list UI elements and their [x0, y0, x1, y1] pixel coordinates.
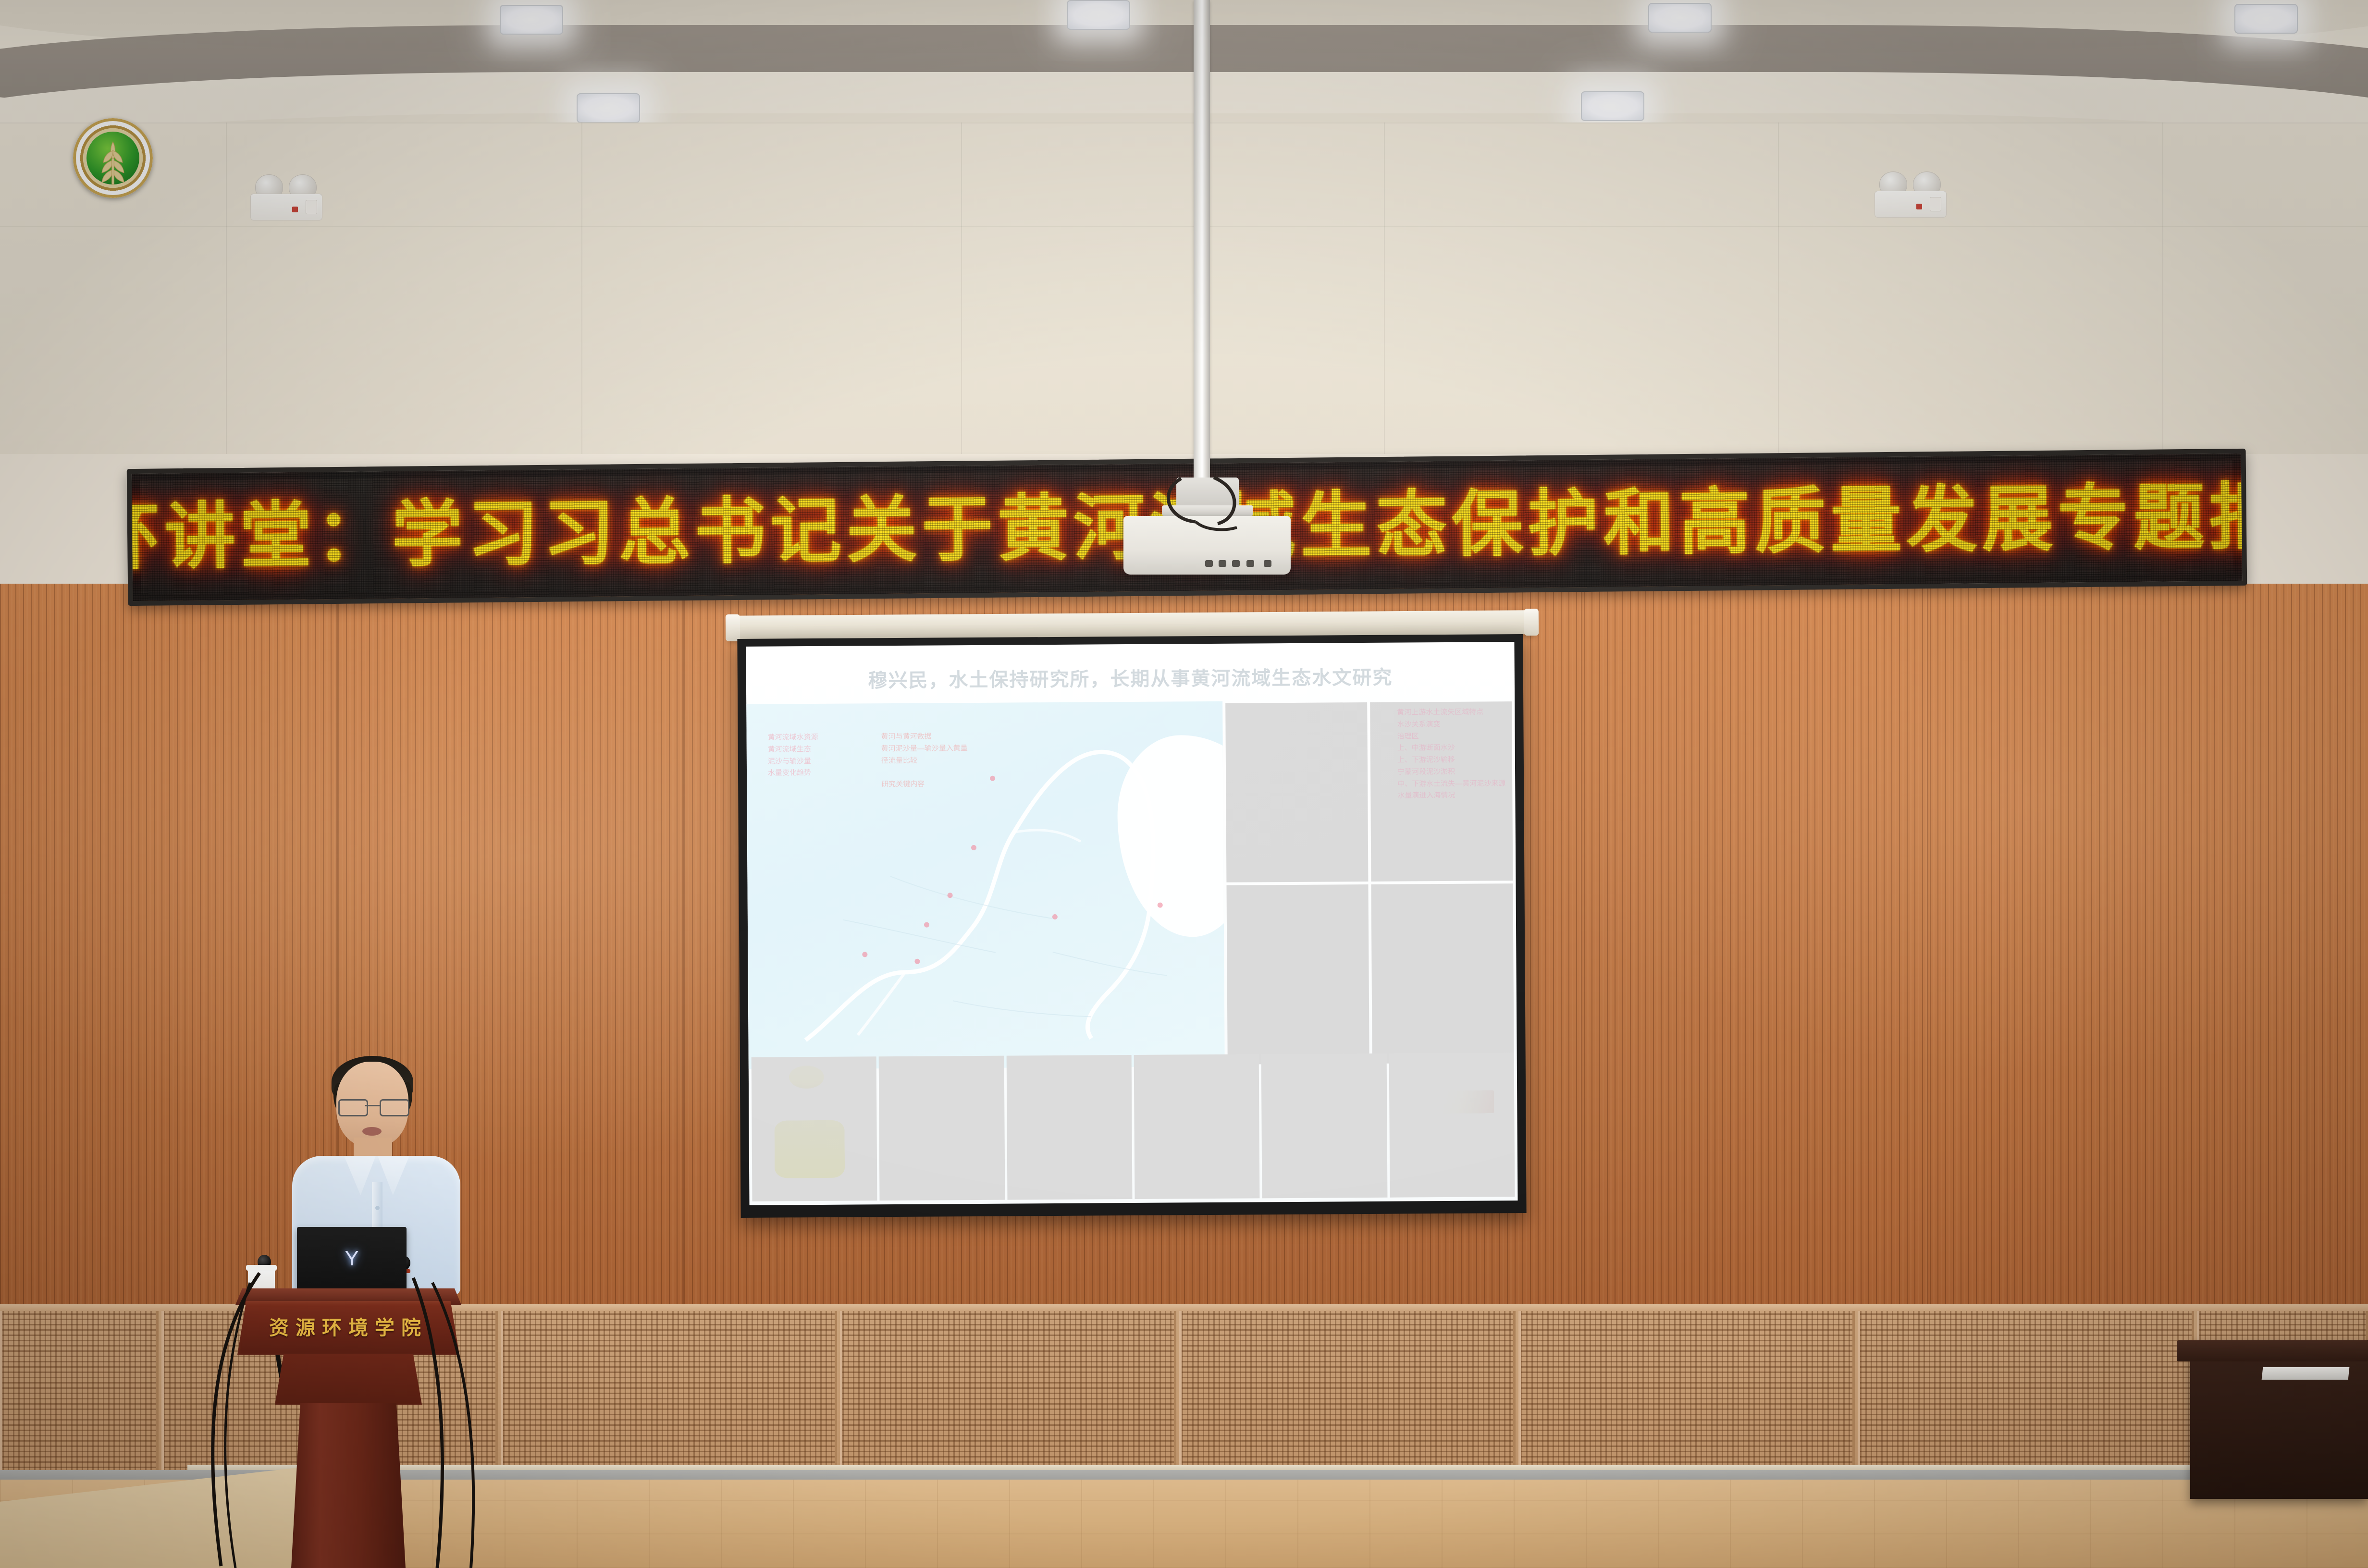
- field-photo-sampling: [1227, 884, 1369, 1065]
- map-city-marker: [862, 952, 867, 957]
- roller-endcap: [1524, 609, 1539, 636]
- projector-port: [1205, 560, 1213, 567]
- upper-wall: [0, 122, 2368, 454]
- photo-red-banner: [1409, 1090, 1494, 1114]
- ceiling-light-panel: [1067, 0, 1130, 30]
- projector-mount-pole: [1194, 0, 1210, 500]
- table-top: [2177, 1340, 2368, 1361]
- yellow-river-basin-map: 黄河流域水资源 黄河流域生态 泥沙与输沙量 水量变化趋势 黄河与黄河数据 黄河泥…: [746, 701, 1225, 1069]
- test-button[interactable]: [1930, 197, 1941, 211]
- ceiling-light-panel: [1581, 91, 1644, 121]
- wall-seam: [1384, 122, 1385, 454]
- projection-screen: 穆兴民，水土保持研究所，长期从事黄河流域生态水文研究: [737, 634, 1526, 1218]
- photo-blob: [901, 1088, 977, 1151]
- wall-seam: [1778, 122, 1779, 454]
- map-city-marker: [1157, 903, 1162, 908]
- wall-seam: [226, 122, 227, 454]
- emergency-light-left: [247, 174, 324, 220]
- strip-photo: [1389, 1053, 1515, 1198]
- map-city-marker: [914, 959, 920, 964]
- ceiling-light-panel: [2234, 4, 2298, 34]
- map-note-left: 黄河流域水资源 黄河流域生态 泥沙与输沙量 水量变化趋势: [768, 732, 819, 780]
- wall-seam: [961, 122, 962, 454]
- wood-panel-seam: [1581, 584, 1582, 1304]
- map-city-marker: [990, 776, 995, 781]
- person-figure: [1240, 810, 1250, 871]
- photo-blob: [789, 1066, 824, 1089]
- wall-joint-line: [0, 226, 2368, 227]
- emergency-lamp-housing: [1875, 191, 1947, 218]
- roller-endcap: [726, 614, 740, 641]
- indicator-led: [1916, 204, 1922, 209]
- projector-cables: [1123, 474, 1291, 551]
- map-city-marker: [924, 922, 929, 928]
- strip-photo: [1134, 1054, 1260, 1199]
- slide-body: 黄河流域水资源 黄河流域生态 泥沙与输沙量 水量变化趋势 黄河与黄河数据 黄河泥…: [746, 699, 1517, 1069]
- paper-on-table: [2262, 1367, 2350, 1380]
- ceiling-light-panel: [1648, 3, 1712, 33]
- wall-joint-line: [0, 122, 2368, 123]
- crest-gold-ring: [73, 118, 153, 198]
- slide-photo-strip: [749, 1053, 1518, 1201]
- strip-photo: [1006, 1055, 1132, 1200]
- photo-blob: [1147, 1075, 1175, 1173]
- projector-port: [1264, 560, 1271, 567]
- person-figure: [1292, 810, 1302, 871]
- photo-blob: [774, 1120, 845, 1178]
- indicator-led: [292, 207, 298, 212]
- strip-photo: [752, 1056, 877, 1201]
- lecture-hall-scene: 资环讲堂：学习习总书记关于黄河流域生态保护和高质量发展专题报告 穆兴民，水土保持…: [0, 0, 2368, 1568]
- acoustic-panel: [840, 1311, 1176, 1484]
- glasses-bridge: [365, 1105, 380, 1106]
- slide-caption: 穆兴民，水土保持研究所，长期从事黄河流域生态水文研究: [746, 661, 1515, 694]
- photo-blob: [1279, 1074, 1362, 1166]
- person-figure: [1343, 810, 1353, 871]
- speaker-mouth: [362, 1127, 382, 1136]
- floor-cable-group: [144, 1230, 625, 1568]
- acoustic-panel: [0, 1311, 159, 1484]
- glasses-icon: [338, 1099, 407, 1114]
- emergency-light-right: [1872, 171, 1949, 218]
- slide-photo-column: 黄河上游水土流失区域特点 水沙关系演变 治理区 上、中游断面水沙 上、下游泥沙输…: [1223, 699, 1517, 1066]
- map-note-right: 黄河上游水土流失区域特点 水沙关系演变 治理区 上、中游断面水沙 上、下游泥沙输…: [1397, 706, 1505, 802]
- acoustic-panel: [1518, 1311, 1855, 1484]
- acoustic-panel: [1179, 1311, 1516, 1484]
- person-figure: [1308, 810, 1319, 871]
- slide-surface: 穆兴民，水土保持研究所，长期从事黄河流域生态水文研究: [746, 642, 1517, 1205]
- photo-blob: [1014, 1058, 1102, 1087]
- projector-port: [1246, 560, 1254, 567]
- person-figure: [1274, 810, 1284, 871]
- wall-seam: [581, 122, 582, 454]
- projector-port: [1219, 560, 1226, 567]
- photo-blob: [1186, 1069, 1212, 1173]
- university-crest-icon: [73, 118, 153, 198]
- strip-photo: [1261, 1053, 1387, 1199]
- glasses-lens: [338, 1099, 368, 1116]
- strip-photo: [879, 1056, 1005, 1201]
- emergency-lamp-housing: [250, 194, 322, 220]
- side-table: [2190, 1340, 2368, 1499]
- person-figure: [1258, 810, 1268, 871]
- wall-seam: [2162, 122, 2163, 454]
- acoustic-panel: [1858, 1311, 2194, 1484]
- glasses-lens: [380, 1099, 409, 1116]
- ceiling-projector: [1123, 502, 1291, 579]
- test-button[interactable]: [306, 200, 317, 214]
- ceiling-light-panel: [577, 93, 640, 123]
- monument-shape: [1262, 713, 1300, 814]
- ceiling-light-panel: [500, 5, 563, 35]
- wood-panel-seam: [1927, 584, 1928, 1304]
- map-note-middle: 黄河与黄河数据 黄河泥沙量—输沙量入黄量 径流量比较 研究关键内容: [881, 731, 968, 791]
- wood-panel-seam: [682, 584, 684, 1304]
- field-photo-landscape: [1371, 883, 1514, 1064]
- field-photo-monument: [1226, 702, 1369, 882]
- projector-port: [1232, 560, 1240, 567]
- person-figure: [1325, 810, 1335, 871]
